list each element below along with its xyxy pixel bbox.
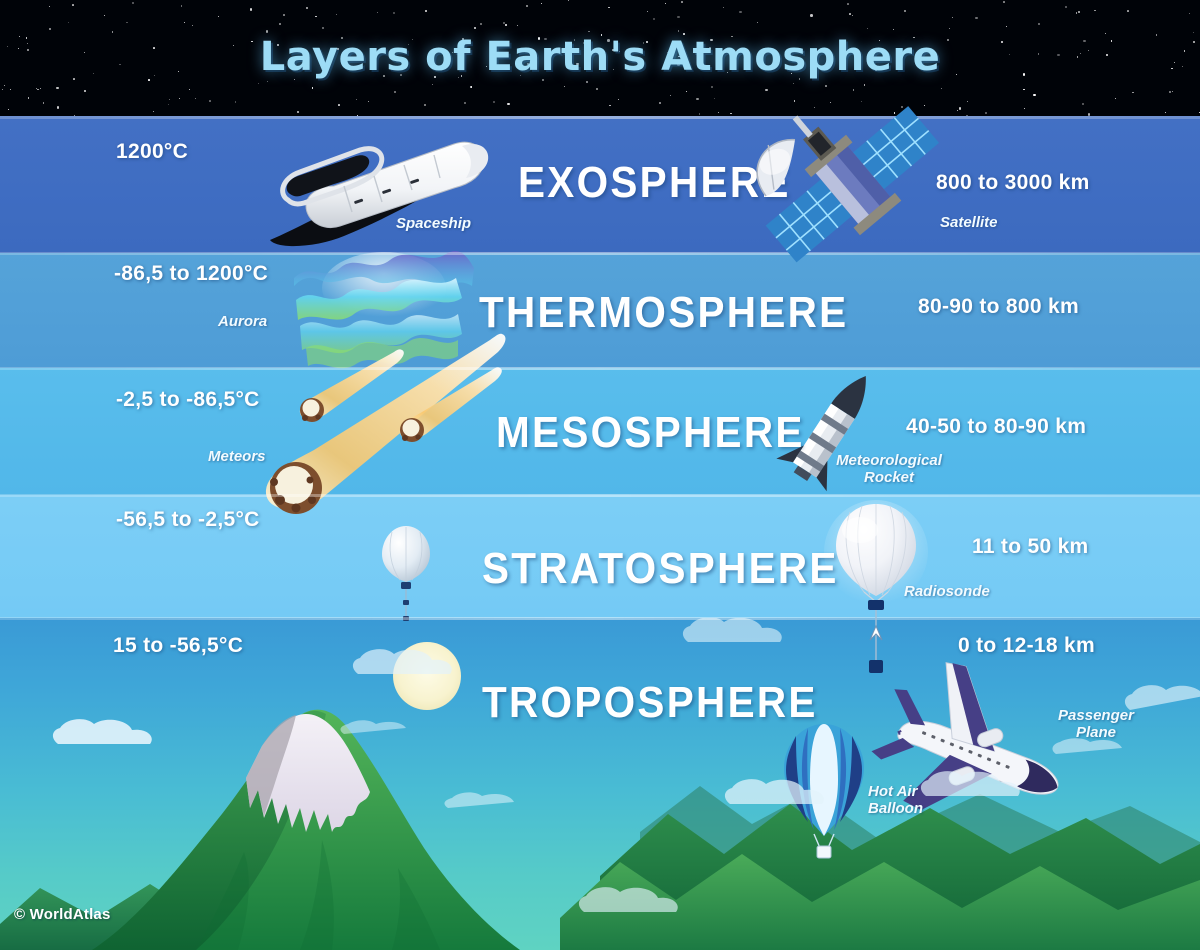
layer-title-stratosphere: STRATOSPHERE <box>482 544 839 594</box>
band-divider <box>0 116 1200 119</box>
atmosphere-infographic: Layers of Earth's Atmosphere <box>0 0 1200 950</box>
band-divider <box>0 617 1200 620</box>
temp-thermosphere: -86,5 to 1200°C <box>114 262 268 286</box>
temp-stratosphere: -56,5 to -2,5°C <box>116 508 260 532</box>
page-title: Layers of Earth's Atmosphere <box>0 34 1200 80</box>
meteors-label: Meteors <box>208 448 266 465</box>
band-divider <box>0 494 1200 497</box>
temp-troposphere: 15 to -56,5°C <box>113 634 243 658</box>
weather-balloon-small-icon <box>378 524 434 622</box>
altitude-thermosphere: 80-90 to 800 km <box>918 295 1079 319</box>
hot-air-balloon-label: Hot Air Balloon <box>868 783 923 818</box>
layer-band-troposphere <box>0 618 1200 950</box>
radiosonde-icon <box>824 500 928 680</box>
altitude-troposphere: 0 to 12-18 km <box>958 634 1095 658</box>
aurora-label: Aurora <box>218 313 267 330</box>
altitude-stratosphere: 11 to 50 km <box>972 535 1089 559</box>
layer-title-mesosphere: MESOSPHERE <box>496 408 805 458</box>
band-divider <box>0 367 1200 370</box>
layer-title-troposphere: TROPOSPHERE <box>482 678 818 728</box>
passenger-plane-label: Passenger Plane <box>1052 707 1140 742</box>
meteorological-rocket-label: Meteorological Rocket <box>834 452 944 487</box>
layer-title-thermosphere: THERMOSPHERE <box>479 288 848 338</box>
temp-exosphere: 1200°C <box>116 140 188 164</box>
spaceship-label: Spaceship <box>396 215 471 232</box>
band-divider <box>0 252 1200 255</box>
altitude-mesosphere: 40-50 to 80-90 km <box>906 415 1086 439</box>
temp-mesosphere: -2,5 to -86,5°C <box>116 388 260 412</box>
spaceship-icon <box>248 128 498 258</box>
altitude-exosphere: 800 to 3000 km <box>936 171 1090 195</box>
satellite-icon <box>748 88 958 283</box>
watermark: © WorldAtlas <box>14 906 111 923</box>
